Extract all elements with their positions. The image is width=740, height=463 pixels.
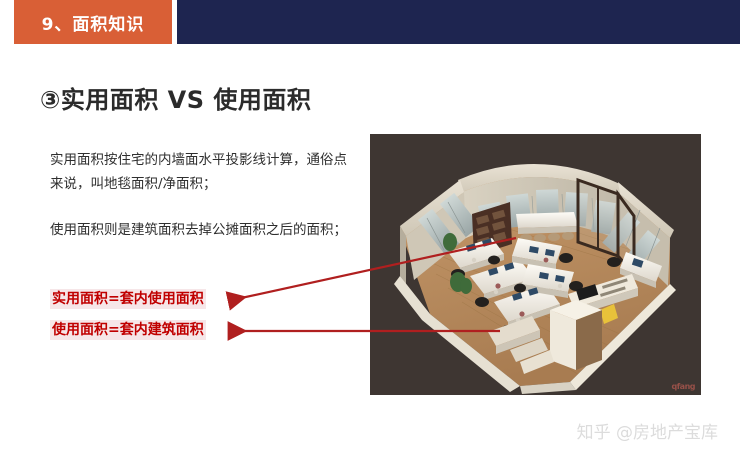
left-wall-end — [400, 226, 406, 284]
slide-header-band: 9、面积知识 — [0, 0, 740, 44]
header-navy-block — [177, 0, 740, 44]
paragraph-usable-definition: 使用面积则是建筑面积去掉公摊面积之后的面积； — [50, 218, 350, 242]
photo-watermark: qfang — [671, 382, 695, 391]
section-title: 9、面积知识 — [14, 0, 172, 44]
page-title: ③实用面积 VS 使用面积 — [40, 80, 311, 115]
paragraph-shiyong-definition: 实用面积按住宅的内墙面水平投影线计算，通俗点来说，叫地毯面积/净面积； — [50, 148, 350, 196]
formula-shiyong-mianji: 实用面积=套内使用面积 — [50, 289, 206, 309]
reception-counter — [550, 300, 602, 370]
formula-block: 实用面积=套内使用面积 使用面积=套内建筑面积 — [50, 288, 300, 340]
formula-shiyong-area: 使用面积=套内建筑面积 — [50, 320, 206, 340]
source-attribution: 知乎 @房地产宝库 — [577, 418, 718, 443]
body-text-column: 实用面积按住宅的内墙面水平投影线计算，通俗点来说，叫地毯面积/净面积； 使用面积… — [50, 148, 350, 242]
floorplan-photo: qfang — [370, 134, 701, 395]
floorplan-illustration — [370, 134, 701, 395]
